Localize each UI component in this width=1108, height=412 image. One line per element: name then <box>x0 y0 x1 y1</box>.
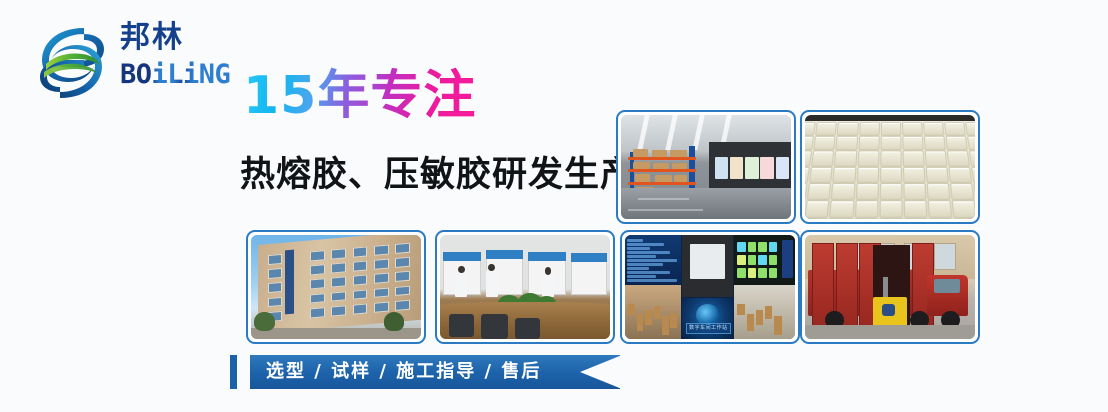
building-window <box>331 263 346 274</box>
brand-name-en: BOiLiNG <box>120 60 235 90</box>
status-tile <box>737 268 746 278</box>
warehouse-scene <box>621 115 791 219</box>
mold-cell <box>927 183 951 200</box>
boiling-infinity-e-logo-icon <box>34 20 110 106</box>
mold-cell <box>809 167 833 183</box>
mold-cell <box>805 122 816 136</box>
digital-workshop-scene: 数字车间工作站 <box>625 235 795 339</box>
building-window <box>331 291 346 302</box>
mold-cell <box>902 122 923 136</box>
mold-cell <box>880 151 902 167</box>
building-window <box>352 247 367 258</box>
data-row <box>627 267 649 270</box>
data-row <box>627 255 656 258</box>
data-row <box>627 259 677 262</box>
headline-main: 15年专注 <box>243 66 476 126</box>
mold-cell <box>829 200 854 218</box>
mold-cell <box>807 183 832 200</box>
building-window <box>331 248 346 259</box>
mold-cell <box>969 151 975 167</box>
mold-cell <box>923 122 944 136</box>
mold-cell <box>926 167 949 183</box>
mold-cell <box>811 151 834 167</box>
status-tile <box>737 242 746 252</box>
stacked-box <box>765 306 772 318</box>
mold-cell <box>834 151 857 167</box>
status-tile <box>769 242 778 252</box>
data-row <box>627 275 656 278</box>
status-tile <box>758 255 767 265</box>
mold-cell <box>928 200 953 218</box>
status-panel <box>782 240 793 278</box>
digital-workshop-caption: 数字车间工作站 <box>686 323 731 334</box>
mold-cell <box>813 136 836 151</box>
building-window <box>352 304 367 315</box>
status-tile <box>748 242 757 252</box>
building-window <box>395 286 410 297</box>
mold-cell <box>903 183 926 200</box>
warehouse-racking-photo[interactable] <box>616 110 796 224</box>
mold-cell <box>880 167 902 183</box>
mold-cell <box>833 167 856 183</box>
building-window <box>395 300 410 311</box>
mold-cell <box>858 136 879 151</box>
mold-cell <box>880 136 901 151</box>
mold-cell <box>967 136 975 151</box>
building-window <box>331 277 346 288</box>
stacked-box <box>662 316 669 334</box>
mold-cell <box>880 122 901 136</box>
building-window <box>374 302 389 313</box>
mold-cell <box>950 183 975 200</box>
status-tile <box>758 268 767 278</box>
building-window <box>395 243 410 254</box>
building-window <box>310 279 325 290</box>
mold-cell <box>805 200 830 218</box>
mold-cell <box>925 151 948 167</box>
headline-sub: 热熔胶、压敏胶研发生产 <box>240 152 636 198</box>
status-tile <box>737 255 746 265</box>
building-window <box>310 293 325 304</box>
mold-cell <box>879 183 902 200</box>
building-window <box>374 288 389 299</box>
building-window <box>352 261 367 272</box>
promo-banner: 邦林 BOiLiNG 15年专注 热熔胶、压敏胶研发生产 选型 / 试样 / 施… <box>0 0 1108 412</box>
ribbon-accent-bar <box>230 355 237 389</box>
building-window <box>374 259 389 270</box>
data-row <box>627 247 649 250</box>
stacked-box <box>654 306 661 318</box>
mold-tray-scene <box>805 115 975 219</box>
building-window <box>352 289 367 300</box>
status-tile <box>769 268 778 278</box>
mold-cell <box>879 200 903 218</box>
building-window <box>395 271 410 282</box>
mold-cell <box>903 200 927 218</box>
status-tile <box>748 268 757 278</box>
building-window <box>352 275 367 286</box>
mold-cell <box>944 122 966 136</box>
building-window <box>374 245 389 256</box>
status-tile <box>748 255 757 265</box>
building-window <box>310 265 325 276</box>
stacked-box <box>774 316 781 334</box>
mold-cell <box>831 183 855 200</box>
stacked-box <box>747 314 754 332</box>
ribbon-label: 选型 / 试样 / 施工指导 / 售后 <box>266 355 541 389</box>
data-row <box>627 263 663 266</box>
data-row <box>627 243 663 246</box>
mold-cell <box>837 122 858 136</box>
data-row <box>627 251 670 254</box>
building-window <box>395 257 410 268</box>
mold-cell <box>854 200 878 218</box>
mold-cell <box>965 122 975 136</box>
building-window <box>331 306 346 317</box>
building-window <box>268 254 283 265</box>
stacked-box <box>737 304 744 316</box>
mold-cell <box>902 151 924 167</box>
mold-cell <box>948 167 972 183</box>
mold-cell <box>952 200 975 218</box>
digital-workshop-photo[interactable]: 数字车间工作站 <box>620 230 800 344</box>
hotmelt-mold-tray-photo[interactable] <box>800 110 980 224</box>
data-row <box>627 271 670 274</box>
mold-cell <box>855 183 878 200</box>
building-window <box>374 273 389 284</box>
factory-building-photo[interactable] <box>246 230 426 344</box>
status-tile <box>769 255 778 265</box>
data-row <box>627 239 643 242</box>
data-row <box>627 279 676 282</box>
mold-cell <box>856 167 879 183</box>
laboratory-photo[interactable] <box>435 230 615 344</box>
mold-cell <box>835 136 857 151</box>
mold-cell <box>947 151 970 167</box>
building-window <box>268 283 283 294</box>
brand-logo[interactable]: 邦林 BOiLiNG <box>34 18 234 110</box>
brand-name-cn: 邦林 <box>120 20 235 56</box>
mold-cell <box>859 122 880 136</box>
stacked-box <box>645 310 652 325</box>
building-window <box>268 297 283 308</box>
building-window <box>310 250 325 261</box>
mold-cell <box>903 167 926 183</box>
brand-wordmark: 邦林 BOiLiNG <box>120 20 235 106</box>
stacked-box <box>628 304 635 316</box>
mold-cell <box>924 136 946 151</box>
mold-cell <box>815 122 837 136</box>
mold-cell <box>902 136 923 151</box>
building-scene <box>251 235 421 339</box>
mold-cell <box>945 136 968 151</box>
stacked-box <box>637 314 644 332</box>
stacked-box <box>756 310 763 325</box>
status-tile <box>758 242 767 252</box>
mold-cell <box>857 151 879 167</box>
stacked-box <box>670 313 677 329</box>
building-window <box>268 268 283 279</box>
truck-loading-scene <box>805 235 975 339</box>
building-window <box>310 308 325 319</box>
loading-truck-photo[interactable] <box>800 230 980 344</box>
laboratory-scene <box>440 235 610 339</box>
